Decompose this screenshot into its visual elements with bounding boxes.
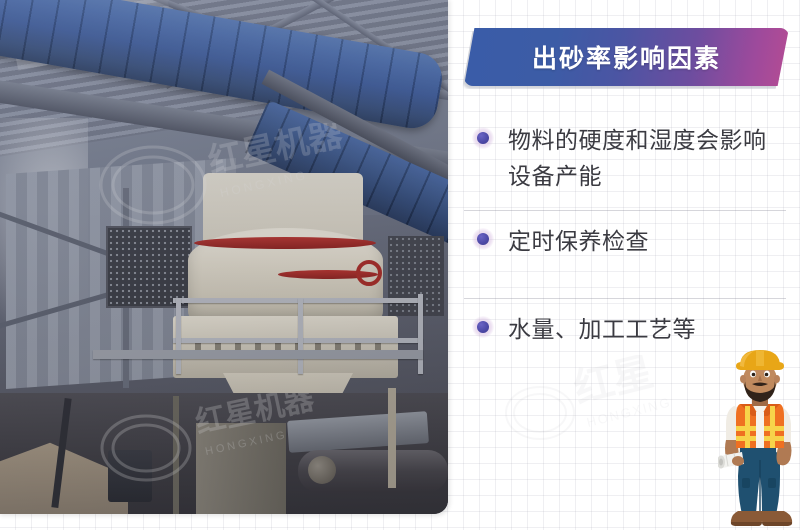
title-banner: 出砂率影响因素 (462, 28, 787, 86)
dot-marker-icon (472, 228, 494, 250)
bullet-text: 水量、加工工艺等 (508, 311, 786, 347)
list-item[interactable]: 物料的硬度和湿度会影响设备产能 (464, 110, 786, 210)
infographic-root: 红星 HONGXING (0, 0, 800, 530)
machine-photo: 红星机器 HONGXING 红星机器 HONGXING (0, 0, 448, 514)
list-item[interactable]: 定时保养检查 (464, 210, 786, 298)
bullet-list: 物料的硬度和湿度会影响设备产能 定时保养检查 水量、加工工艺等 (464, 110, 786, 384)
banner-body: 出砂率影响因素 (464, 28, 789, 86)
bullet-text: 定时保养检查 (508, 223, 786, 259)
dot-marker-icon (472, 316, 494, 338)
hand-left (732, 456, 744, 466)
bullet-text: 物料的硬度和湿度会影响设备产能 (508, 122, 786, 194)
dot-marker-icon (472, 127, 494, 149)
banner-title-text: 出砂率影响因素 (532, 39, 721, 75)
construction-worker-illustration (718, 348, 800, 530)
